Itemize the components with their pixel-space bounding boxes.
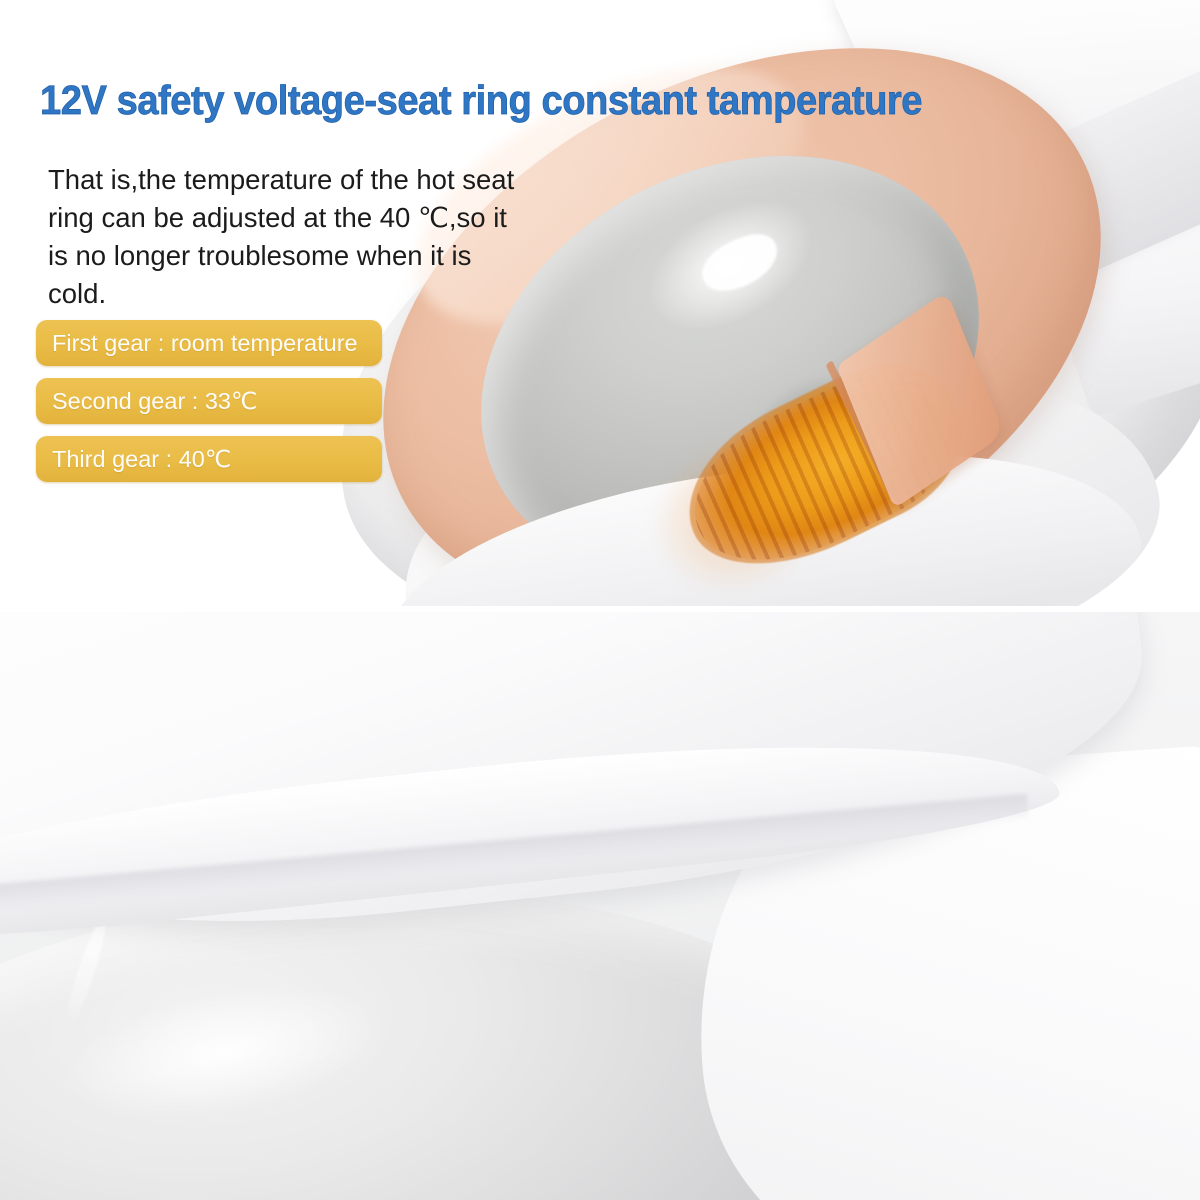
panel-heated-seat: 12V safety voltage-seat ring constant ta… xyxy=(0,0,1200,606)
panel-warm-air-drying: Warm air drying After washing,the warm a… xyxy=(0,612,1200,1200)
gear-pill-first[interactable]: First gear : room temperature xyxy=(36,320,382,366)
gear-pill-second[interactable]: Second gear : 33℃ xyxy=(36,378,382,424)
heated-seat-description: That is,the temperature of the hot seat … xyxy=(48,161,526,313)
heated-seat-headline: 12V safety voltage-seat ring constant ta… xyxy=(40,77,922,124)
panel-divider xyxy=(0,606,1200,612)
warm-air-drying-photo xyxy=(0,612,1200,1200)
product-feature-infographic: 12V safety voltage-seat ring constant ta… xyxy=(0,0,1200,1200)
gear-pill-third[interactable]: Third gear : 40℃ xyxy=(36,436,382,482)
heated-seat-gear-list: First gear : room temperature Second gea… xyxy=(36,320,382,482)
